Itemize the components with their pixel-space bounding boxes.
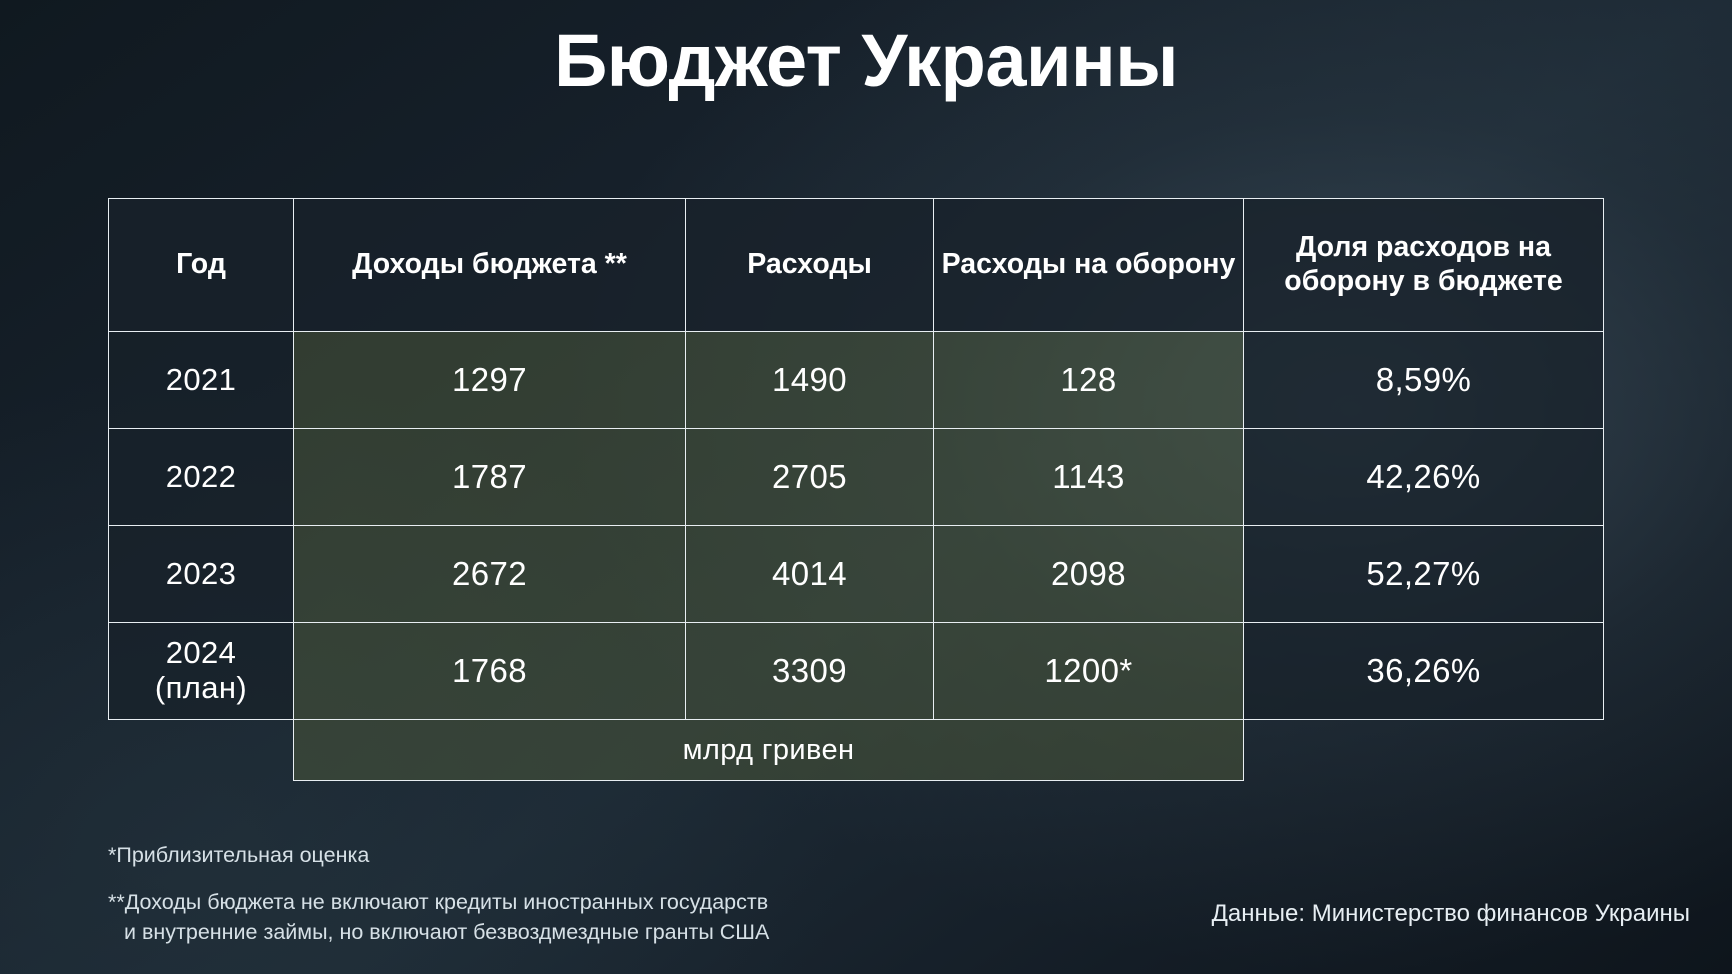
footnote-estimate: *Приблизительная оценка	[108, 840, 1008, 871]
table-row: 2022 1787 2705 1143 42,26%	[109, 429, 1604, 526]
cell-defense: 1143	[934, 429, 1244, 526]
cell-expenses: 2705	[686, 429, 934, 526]
cell-expenses: 3309	[686, 623, 934, 720]
column-header-income: Доходы бюджета **	[294, 199, 686, 332]
cell-year: 2022	[109, 429, 294, 526]
cell-year-note: (план)	[155, 670, 247, 705]
column-header-defense: Расходы на оборону	[934, 199, 1244, 332]
units-spacer-right	[1244, 720, 1604, 781]
cell-year: 2021	[109, 332, 294, 429]
cell-income: 2672	[294, 526, 686, 623]
cell-expenses: 1490	[686, 332, 934, 429]
cell-income: 1787	[294, 429, 686, 526]
cell-defense-share: 36,26%	[1244, 623, 1604, 720]
table-row: 2024 (план) 1768 3309 1200* 36,26%	[109, 623, 1604, 720]
footnotes: *Приблизительная оценка **Доходы бюджета…	[108, 840, 1008, 948]
cell-year-value: 2024	[166, 635, 237, 670]
column-header-expenses: Расходы	[686, 199, 934, 332]
cell-defense: 1200*	[934, 623, 1244, 720]
cell-defense: 128	[934, 332, 1244, 429]
cell-expenses: 4014	[686, 526, 934, 623]
table-units-row: млрд гривен	[109, 720, 1604, 781]
table-body: 2021 1297 1490 128 8,59% 2022 1787 2705 …	[109, 332, 1604, 781]
cell-defense-share: 8,59%	[1244, 332, 1604, 429]
units-spacer	[109, 720, 294, 781]
footnote-income-definition: **Доходы бюджета не включают кредиты ино…	[108, 887, 1008, 948]
page-title: Бюджет Украины	[0, 22, 1732, 100]
infographic-canvas: Бюджет Украины Год Доходы бюджета ** Рас…	[0, 0, 1732, 974]
units-label: млрд гривен	[294, 720, 1244, 781]
table-header: Год Доходы бюджета ** Расходы Расходы на…	[109, 199, 1604, 332]
cell-income: 1768	[294, 623, 686, 720]
cell-defense: 2098	[934, 526, 1244, 623]
column-header-year: Год	[109, 199, 294, 332]
budget-table-container: Год Доходы бюджета ** Расходы Расходы на…	[108, 198, 1603, 781]
cell-year: 2023	[109, 526, 294, 623]
cell-defense-share: 42,26%	[1244, 429, 1604, 526]
table-row: 2021 1297 1490 128 8,59%	[109, 332, 1604, 429]
footnote-income-line1: **Доходы бюджета не включают кредиты ино…	[108, 890, 768, 914]
column-header-defense-share: Доля расходов на оборону в бюджете	[1244, 199, 1604, 332]
footnote-income-line2: и внутренние займы, но включают безвоздм…	[108, 917, 1008, 948]
table-header-row: Год Доходы бюджета ** Расходы Расходы на…	[109, 199, 1604, 332]
table-row: 2023 2672 4014 2098 52,27%	[109, 526, 1604, 623]
cell-defense-share: 52,27%	[1244, 526, 1604, 623]
budget-table: Год Доходы бюджета ** Расходы Расходы на…	[108, 198, 1604, 781]
source-attribution: Данные: Министерство финансов Украины	[1212, 900, 1690, 928]
cell-year: 2024 (план)	[109, 623, 294, 720]
cell-income: 1297	[294, 332, 686, 429]
